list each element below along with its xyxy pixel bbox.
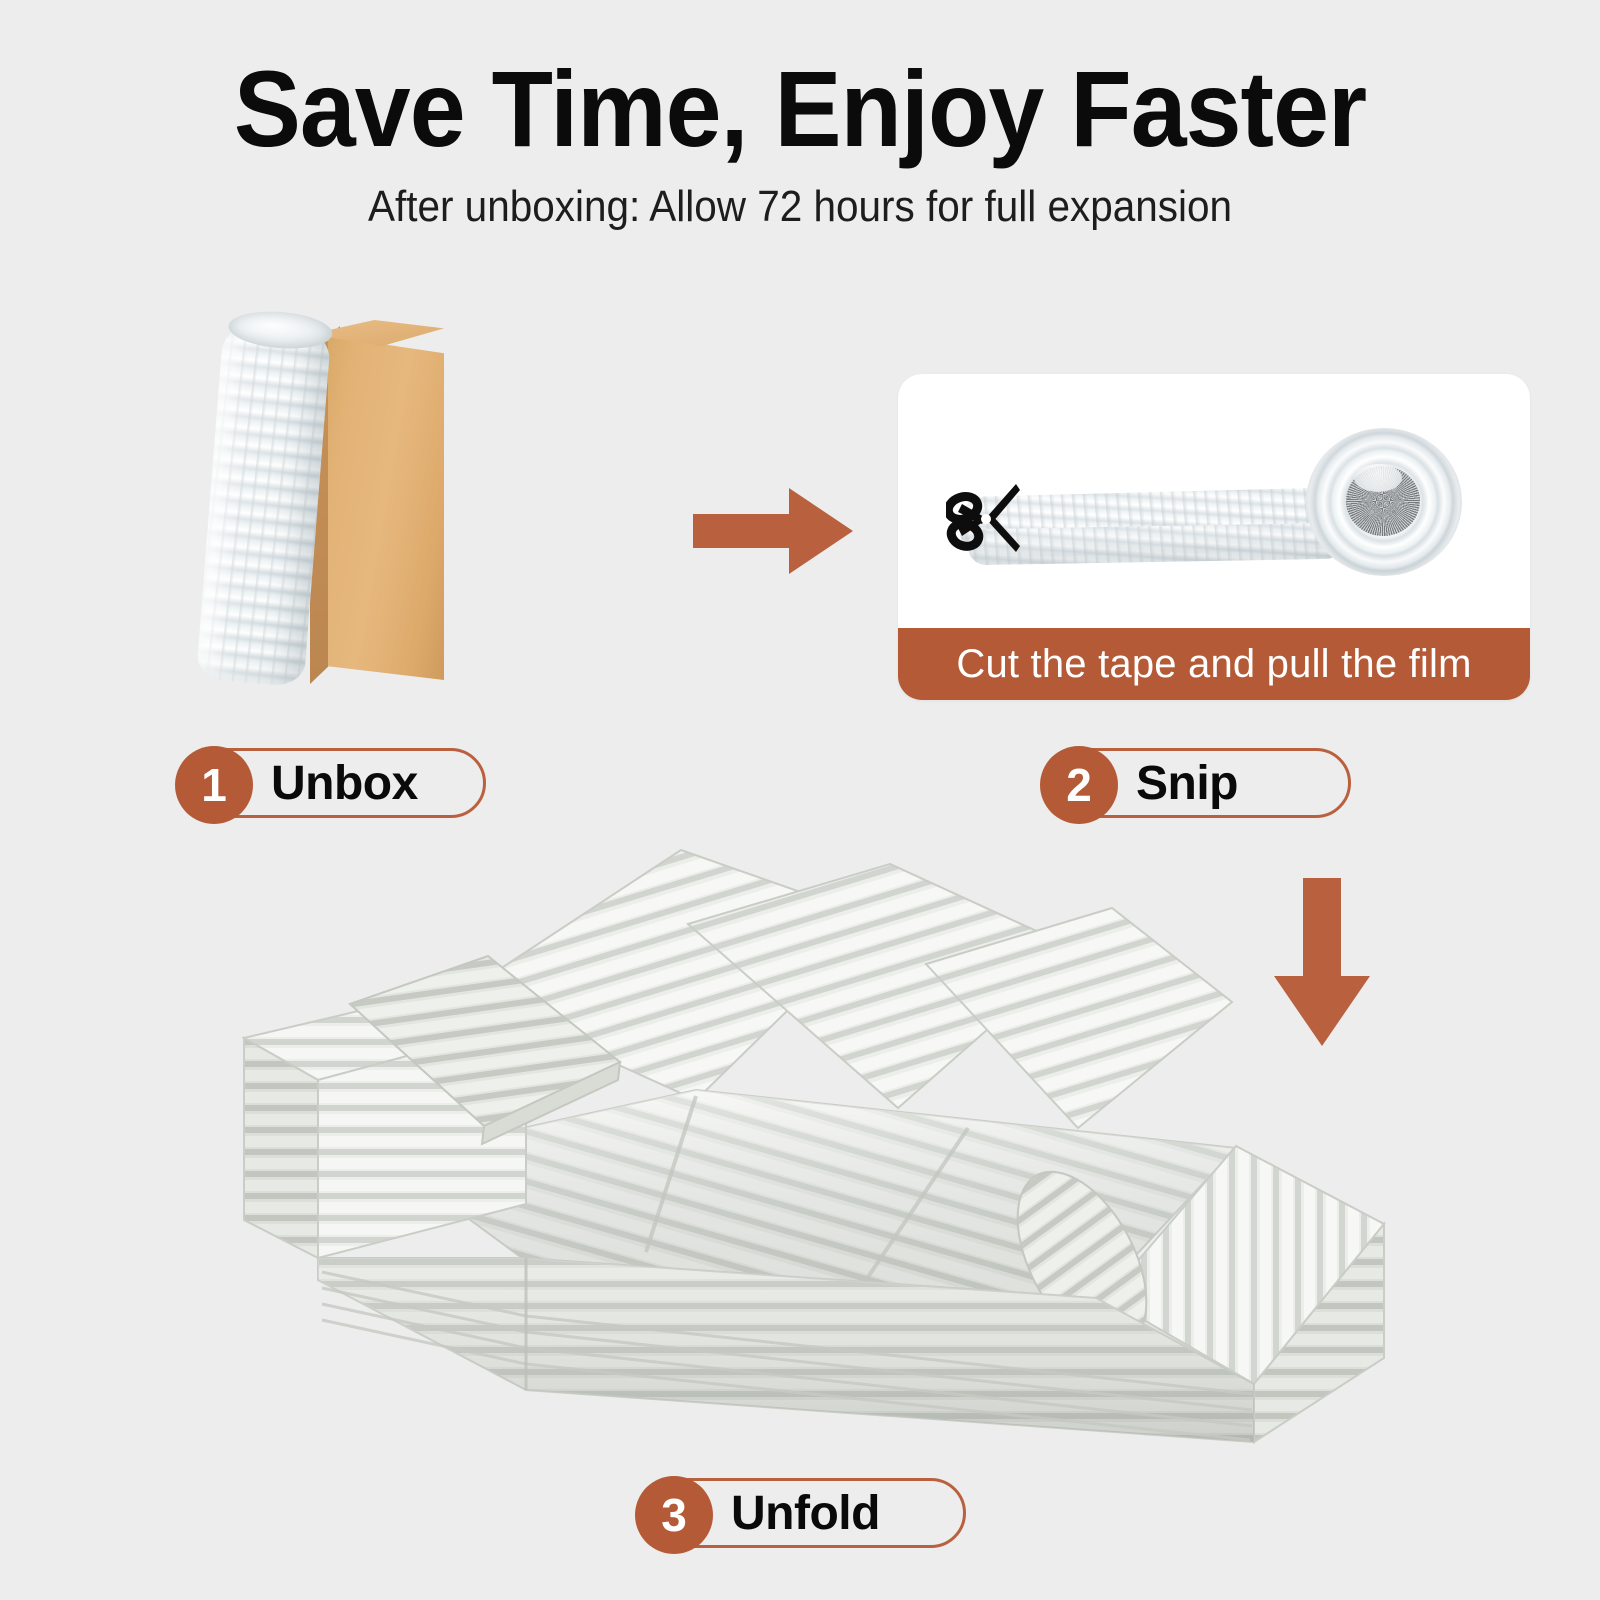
arrow-right-icon [693,488,853,574]
step-badge-2[interactable]: 2 Snip [1041,748,1351,818]
step-number-3: 3 [635,1476,713,1554]
step1-illustration [200,290,490,690]
scissors-icon [946,478,1022,560]
step3-sofa-illustration [226,828,1476,1448]
step-label-unbox: Unbox [271,756,448,811]
rolled-sofa-coil-core-highlight [1354,464,1402,492]
step2-caption: Cut the tape and pull the film [898,628,1530,700]
step-badge-3[interactable]: 3 Unfold [636,1478,966,1548]
page-subtitle: After unboxing: Allow 72 hours for full … [64,182,1536,232]
step-number-2: 2 [1040,746,1118,824]
carton-front-face [328,336,444,680]
step-number-1: 1 [175,746,253,824]
step2-card: Cut the tape and pull the film [898,374,1530,700]
step2-caption-text: Cut the tape and pull the film [956,642,1471,687]
step-badge-1[interactable]: 1 Unbox [176,748,486,818]
step-label-snip: Snip [1136,756,1268,811]
page-title: Save Time, Enjoy Faster [56,52,1544,166]
infographic-canvas: Save Time, Enjoy Faster After unboxing: … [0,0,1600,1600]
step-label-unfold: Unfold [731,1486,910,1541]
rolled-sofa-film-body-lower [968,523,1345,566]
